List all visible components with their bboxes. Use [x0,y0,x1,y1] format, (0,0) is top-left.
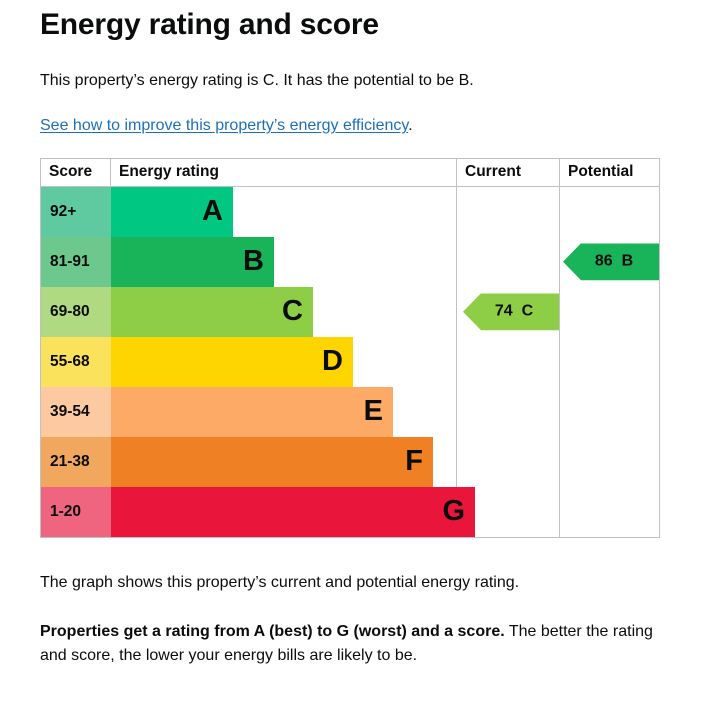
score-range-b: 81-91 [41,237,111,287]
band-letter-a: A [202,197,223,226]
band-letter-e: E [364,397,383,426]
rating-cell-b: B [111,237,457,287]
improve-energy-efficiency-link[interactable]: See how to improve this property’s energ… [40,117,408,134]
potential-cell-b: 86B [560,237,659,287]
potential-cell-d [560,337,659,387]
link-trailing-period: . [408,117,412,134]
band-row-a: 92+A [41,187,659,237]
header-energy-rating: Energy rating [111,159,457,186]
current-cell-f [457,437,560,487]
band-row-d: 55-68D [41,337,659,387]
current-band-letter: C [522,303,534,321]
potential-band-letter: B [622,253,634,271]
page-title: Energy rating and score [40,8,676,43]
score-range-d: 55-68 [41,337,111,387]
score-range-f: 21-38 [41,437,111,487]
potential-score-value: 86 [595,253,613,271]
potential-rating-marker: 86B [563,243,659,280]
epc-page: Energy rating and score This property’s … [0,8,716,668]
rating-bar-e: E [111,387,393,437]
rating-cell-f: F [111,437,457,487]
band-letter-b: B [243,247,264,276]
current-cell-g [457,487,560,537]
current-cell-a [457,187,560,237]
current-cell-c: 74C [457,287,560,337]
score-range-g: 1-20 [41,487,111,537]
rating-bar-b: B [111,237,274,287]
rating-cell-e: E [111,387,457,437]
potential-cell-f [560,437,659,487]
rating-bar-f: F [111,437,433,487]
score-range-a: 92+ [41,187,111,237]
intro-text: This property’s energy rating is C. It h… [40,69,676,92]
score-range-c: 69-80 [41,287,111,337]
header-current: Current [457,159,560,186]
current-rating-marker: 74C [463,293,559,330]
band-row-b: 81-91B86B [41,237,659,287]
band-row-g: 1-20G [41,487,659,537]
header-potential: Potential [560,159,659,186]
band-letter-f: F [405,447,423,476]
header-score: Score [41,159,111,186]
graph-body: 92+A81-91B86B69-80C74C55-68D39-54E21-38F… [41,187,659,537]
potential-cell-a [560,187,659,237]
current-cell-b [457,237,560,287]
potential-cell-e [560,387,659,437]
improve-link-row: See how to improve this property’s energ… [40,117,676,135]
rating-cell-a: A [111,187,457,237]
score-range-e: 39-54 [41,387,111,437]
rating-summary-bold: Properties get a rating from A (best) to… [40,623,505,640]
graph-footnote: The graph shows this property’s current … [40,571,676,594]
band-row-f: 21-38F [41,437,659,487]
rating-cell-d: D [111,337,457,387]
graph-header-row: Score Energy rating Current Potential [41,159,659,187]
band-row-c: 69-80C74C [41,287,659,337]
potential-cell-g [560,487,659,537]
band-letter-c: C [282,297,303,326]
rating-bar-d: D [111,337,353,387]
band-letter-d: D [322,347,343,376]
rating-cell-g: G [111,487,457,537]
rating-bar-c: C [111,287,313,337]
current-score-value: 74 [495,303,513,321]
current-cell-d [457,337,560,387]
band-row-e: 39-54E [41,387,659,437]
rating-summary: Properties get a rating from A (best) to… [40,620,676,668]
rating-cell-c: C [111,287,457,337]
current-cell-e [457,387,560,437]
potential-cell-c [560,287,659,337]
energy-rating-graph: Score Energy rating Current Potential 92… [40,158,660,538]
rating-bar-a: A [111,187,233,237]
rating-bar-g: G [111,487,475,537]
